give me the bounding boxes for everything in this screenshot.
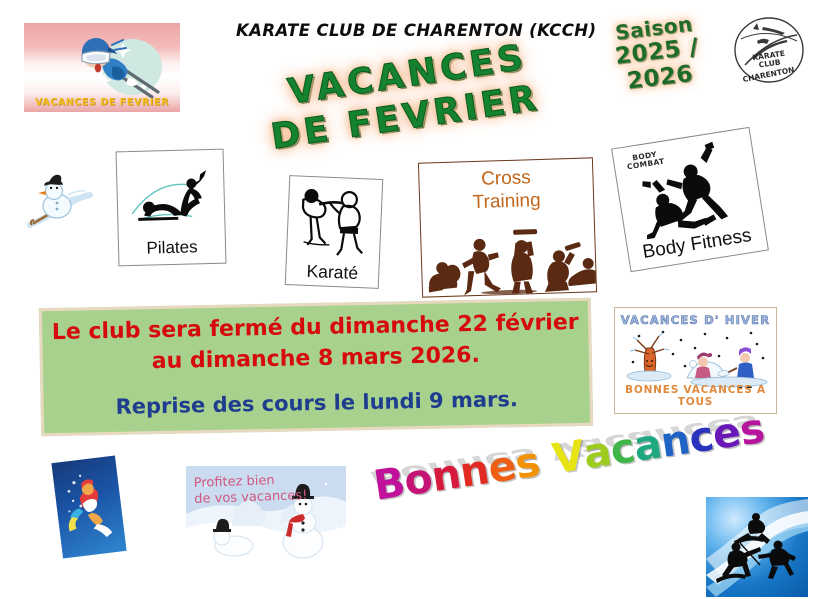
pilates-silhouette-icon	[117, 152, 225, 239]
snowman-photo-caption: Profitez bien de vos vacances!	[193, 472, 307, 508]
cross-training-line2: Training	[420, 187, 594, 216]
sledding-snowman-icon	[24, 173, 96, 237]
club-logo: KARATE CLUB CHARENTON	[723, 13, 815, 87]
snowboarder-card	[51, 455, 126, 558]
announcement-line-2: au dimanche 8 mars 2026.	[43, 341, 589, 376]
closure-announcement-banner: Le club sera fermé du dimanche 22 févrie…	[39, 298, 593, 437]
announcement-line-1: Le club sera fermé du dimanche 22 févrie…	[42, 310, 588, 345]
skier-card-caption: VACANCES DE FEVRIER	[24, 97, 180, 108]
discipline-card-pilates[interactable]: Pilates	[116, 149, 227, 267]
discipline-label-cross-training: Cross Training	[419, 164, 593, 216]
page-title: VACANCES DE FEVRIER	[246, 40, 574, 165]
snowman-photo-card: Profitez bien de vos vacances!	[186, 466, 346, 561]
winter-card-title: VACANCES D' HIVER	[615, 313, 776, 327]
discipline-card-cross-training[interactable]: Cross Training	[418, 157, 597, 297]
discipline-label-karate: Karaté	[286, 260, 379, 285]
skier-banner-image: VACANCES DE FEVRIER	[24, 23, 180, 112]
discipline-label-pilates: Pilates	[119, 237, 225, 260]
karate-fighters-icon	[287, 179, 382, 265]
discipline-card-karate[interactable]: Karaté	[285, 175, 384, 289]
karate-club-emblem-icon: KARATE CLUB CHARENTON	[723, 13, 815, 87]
poster-canvas: VACANCES DE FEVRIER KARATE CLUB DE CHARE…	[0, 0, 839, 599]
discipline-card-body-fitness[interactable]: BODY COMBAT Body	[611, 127, 769, 272]
snowman-caption-line2: de vos vacances!	[194, 488, 308, 507]
winter-holiday-card: VACANCES D' HIVER	[614, 307, 777, 414]
cross-training-silhouettes-icon	[421, 219, 596, 296]
snowman-caption-line1: Profitez bien	[193, 473, 274, 491]
snowboarder-icon	[51, 455, 126, 558]
skiers-card	[706, 497, 808, 597]
season-label: Saison 2025 / 2026	[592, 9, 722, 98]
skiers-silhouette-icon	[706, 497, 808, 597]
announcement-line-3: Reprise des cours le lundi 9 mars.	[44, 386, 590, 420]
